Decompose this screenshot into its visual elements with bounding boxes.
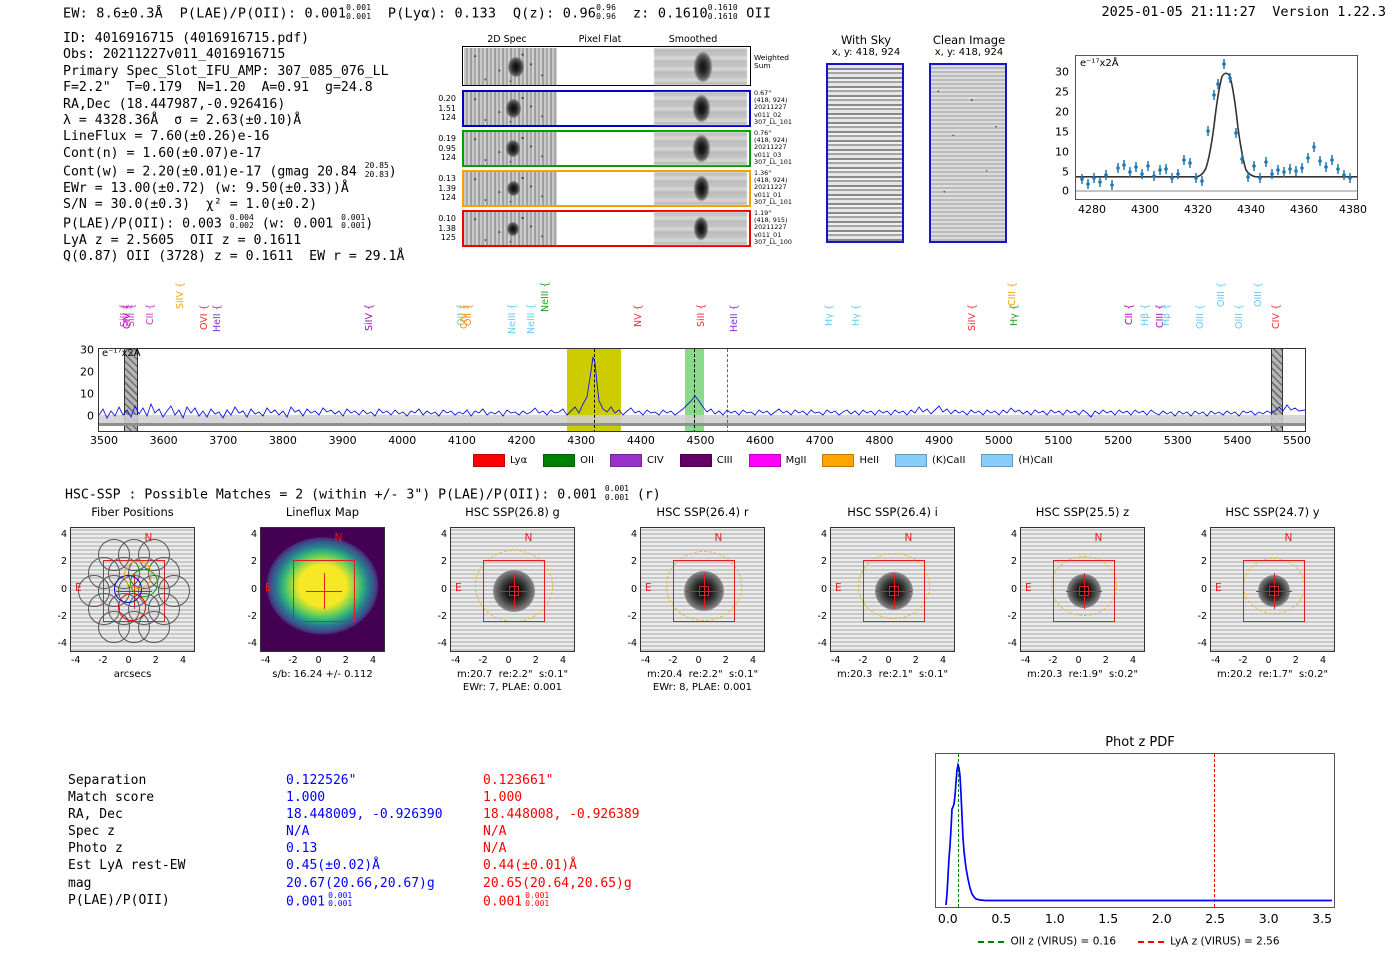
compass-e-4: E xyxy=(835,582,842,594)
cutout-xtick-5-1: -2 xyxy=(1048,655,1057,666)
emission-label-26: OIII { xyxy=(1195,304,1206,348)
legend-swatch-1 xyxy=(543,454,575,467)
with-sky-subtitle: x, y: 418, 924 xyxy=(816,47,916,58)
info-line-obs: Obs: 20211227v011_4016916715 xyxy=(63,47,404,63)
fiber-2-meta: 0.76" (418, 924) 20211227 v011_03 307_LL… xyxy=(754,130,812,166)
cutout-caption1-6: m:20.2 re:1.7" s:0.2" xyxy=(1175,669,1370,680)
info-line-z: LyA z = 2.5605 OII z = 0.1611 xyxy=(63,233,404,249)
photz-pdf-title: Phot z PDF xyxy=(905,735,1375,750)
with-sky-panel: With Sky x, y: 418, 924 xyxy=(822,33,910,248)
match-row-col2-2: 18.448008, -0.926389 xyxy=(483,806,703,823)
info-line-q: Q(0.87) OII (3728) z = 0.1611 EW r = 29.… xyxy=(63,249,404,265)
cutout-ytick-3-2: 0 xyxy=(621,584,637,595)
fiber-row-2 xyxy=(462,130,751,167)
cutout-ytick-0-1: -2 xyxy=(51,611,67,622)
photz-legend-item-0: OII z (VIRUS) = 0.16 xyxy=(978,931,1116,950)
spec2d-title-2dspec: 2D Spec xyxy=(462,34,552,45)
full-spectrum-chart: SiII {CIV {SiII {CII {SiIV {OVI {HeII {S… xyxy=(78,282,1310,462)
match-row-col2-3: N/A xyxy=(483,823,703,840)
with-sky-title: With Sky xyxy=(822,33,910,47)
info-line-lineflux: LineFlux = 7.60(±0.26)e-16 xyxy=(63,129,404,145)
legend-swatch-0 xyxy=(473,454,505,467)
fiber-4-meta: 1.19" (418, 915) 20211227 v011_01 307_LL… xyxy=(754,210,812,246)
spec-xtick-4100: 4100 xyxy=(448,434,476,447)
cutout-image-0[interactable] xyxy=(70,527,195,652)
photz-pdf-legend: OII z (VIRUS) = 0.16LyA z (VIRUS) = 2.56 xyxy=(935,931,1345,947)
emission-label-17: Hγ { xyxy=(824,304,835,348)
cutout-xtick-2-2: 0 xyxy=(506,655,512,666)
cutout-xtick-6-3: 2 xyxy=(1293,655,1299,666)
cutout-ytick-5-4: 4 xyxy=(1001,529,1017,540)
fiber-1-meta: 0.67" (418, 924) 20211227 v011_02 307_LL… xyxy=(754,90,812,126)
match-row-col1-2: 18.448009, -0.926390 xyxy=(286,806,496,823)
spec-xtick-5000: 5000 xyxy=(985,434,1013,447)
cutout-caption1-4: m:20.3 re:2.1" s:0.1" xyxy=(795,669,990,680)
spec2d-strip: 2D Spec Pixel Flat Smoothed Weighted Sum… xyxy=(462,34,757,249)
legend-item-lyα: Lyα xyxy=(473,450,543,469)
match-row-col1-1: 1.000 xyxy=(286,789,496,806)
spec-xtick-3900: 3900 xyxy=(329,434,357,447)
cutout-xtick-6-4: 4 xyxy=(1320,655,1326,666)
match-row-label-7: P(LAE)/P(OII) xyxy=(68,892,268,909)
photz-xtick-2: 1.0 xyxy=(1045,911,1065,926)
cutout-ytick-4-3: 2 xyxy=(811,556,827,567)
match-col1-bounds: 0.0010.001 xyxy=(328,892,352,909)
legend-label-4: MgII xyxy=(786,455,807,466)
legend-label-5: HeII xyxy=(859,455,879,466)
cutout-xtick-0-0: -4 xyxy=(71,655,80,666)
match-row-col2-7: 0.0010.0010.001 xyxy=(483,892,703,910)
header-qz: Q(z): 0.96 xyxy=(513,5,596,21)
info-line-contn: Cont(n) = 1.60(±0.07)e-17 xyxy=(63,146,404,162)
spec-xtick-4700: 4700 xyxy=(806,434,834,447)
spec-ytick-0: 0 xyxy=(66,410,94,423)
cutout-ytick-1-3: 2 xyxy=(241,556,257,567)
spectrum-ylabel: e⁻¹⁷x2Å xyxy=(102,348,141,359)
match-row-col2-6: 20.65(20.64,20.65)g xyxy=(483,875,703,892)
spec2d-title-pixelflat: Pixel Flat xyxy=(555,34,645,45)
legend-swatch-4 xyxy=(749,454,781,467)
lp-ytick-30: 30 xyxy=(1043,66,1069,79)
emission-label-27: OIII { xyxy=(1216,282,1227,346)
cutout-panel-row: Fiber PositionsNE-4-4-2-2002244arcsecsLi… xyxy=(40,505,1370,730)
lp-xtick-4360: 4360 xyxy=(1290,203,1318,216)
cutout-caption1-5: m:20.3 re:1.9" s:0.2" xyxy=(985,669,1180,680)
cutout-image-4[interactable] xyxy=(830,527,955,652)
cutout-xtick-5-4: 4 xyxy=(1130,655,1136,666)
spectrum-axes: e⁻¹⁷x2Å xyxy=(98,348,1306,432)
photz-legend-label-0: OII z (VIRUS) = 0.16 xyxy=(1010,936,1116,948)
header-plae: P(LAE)/P(OII): 0.001 xyxy=(180,5,347,21)
spec-xtick-5500: 5500 xyxy=(1283,434,1311,447)
cutout-xtick-1-0: -4 xyxy=(261,655,270,666)
match-row-col2-1: 1.000 xyxy=(483,789,703,806)
legend-swatch-3 xyxy=(680,454,712,467)
cutout-ytick-1-1: -2 xyxy=(241,611,257,622)
header-ew: EW: 8.6±0.3Å xyxy=(63,5,163,21)
emission-label-22: CII { xyxy=(1124,304,1135,348)
cutout-xtick-3-0: -4 xyxy=(641,655,650,666)
emission-label-3: CII { xyxy=(145,304,156,348)
match-row-col1-4: 0.13 xyxy=(286,840,496,857)
cutout-xtick-5-2: 0 xyxy=(1076,655,1082,666)
cutout-xtick-0-3: 2 xyxy=(153,655,159,666)
cutout-ytick-1-2: 0 xyxy=(241,584,257,595)
legend-item-oii: OII xyxy=(543,450,610,469)
cutout-title-5: HSC SSP(25.5) z xyxy=(990,505,1175,519)
spec-xtick-4600: 4600 xyxy=(746,434,774,447)
cutout-xtick-1-4: 4 xyxy=(370,655,376,666)
detection-info-block: ID: 4016916715 (4016916715.pdf) Obs: 202… xyxy=(63,31,404,265)
cutout-xtick-4-1: -2 xyxy=(858,655,867,666)
fiber-circle-17[interactable] xyxy=(158,575,190,607)
compass-n-0: N xyxy=(145,532,153,544)
compass-e-3: E xyxy=(645,582,652,594)
header-plya: P(Lyα): 0.133 xyxy=(388,5,496,21)
cutout-xtick-1-1: -2 xyxy=(288,655,297,666)
legend-label-0: Lyα xyxy=(510,455,527,466)
cutout-title-0: Fiber Positions xyxy=(40,505,225,519)
legend-label-6: (K)CaII xyxy=(932,455,965,466)
cutout-ytick-2-0: -4 xyxy=(431,638,447,649)
cutout-xtick-0-1: -2 xyxy=(98,655,107,666)
match-row-label-0: Separation xyxy=(68,772,268,789)
legend-item-kcaii: (K)CaII xyxy=(895,450,981,469)
header-z-line: OII xyxy=(746,5,771,21)
fiber-row-4 xyxy=(462,210,751,247)
cutout-title-6: HSC SSP(24.7) y xyxy=(1180,505,1365,519)
fiber-2-nums: 0.19 0.95 124 xyxy=(422,134,456,163)
center-marker-5 xyxy=(1079,586,1089,596)
clean-image-image xyxy=(929,63,1007,243)
line-profile-svg xyxy=(1076,56,1357,199)
compass-e-6: E xyxy=(1215,582,1222,594)
cutout-xtick-0-2: 0 xyxy=(126,655,132,666)
photz-pdf-axes xyxy=(935,753,1335,908)
cutout-ytick-6-4: 4 xyxy=(1191,529,1207,540)
photz-xtick-6: 3.0 xyxy=(1259,911,1279,926)
info-plae-w-bounds: 0.0010.001 xyxy=(341,214,365,231)
legend-label-2: CIV xyxy=(647,455,664,466)
photz-pdf-chart: Phot z PDF 0.00.51.01.52.02.53.03.5 OII … xyxy=(905,735,1375,945)
cutout-title-4: HSC SSP(26.4) i xyxy=(800,505,985,519)
legend-label-1: OII xyxy=(580,455,594,466)
lp-xtick-4320: 4320 xyxy=(1184,203,1212,216)
cutout-caption1-0: arcsecs xyxy=(35,669,230,680)
fiber-4-nums: 0.10 1.38 125 xyxy=(422,214,456,243)
match-row-col2-4: N/A xyxy=(483,840,703,857)
cutout-ytick-0-4: 4 xyxy=(51,529,67,540)
cutout-title-3: HSC SSP(26.4) r xyxy=(610,505,795,519)
lp-ytick-20: 20 xyxy=(1043,106,1069,119)
cutout-ytick-3-4: 4 xyxy=(621,529,637,540)
cutout-image-3[interactable] xyxy=(640,527,765,652)
cutout-ytick-6-2: 0 xyxy=(1191,584,1207,595)
cutout-ytick-4-1: -2 xyxy=(811,611,827,622)
cutout-ytick-5-0: -4 xyxy=(1001,638,1017,649)
fiber-circle-18[interactable] xyxy=(78,575,110,607)
info-plae-bounds: 0.0040.002 xyxy=(230,214,254,231)
emission-label-29: OIII { xyxy=(1253,282,1264,346)
cutout-image-5[interactable] xyxy=(1020,527,1145,652)
cutout-xtick-6-1: -2 xyxy=(1238,655,1247,666)
lp-ytick-5: 5 xyxy=(1043,166,1069,179)
cutout-caption2-2: EWr: 7, PLAE: 0.001 xyxy=(415,682,610,693)
spec2d-weighted-row xyxy=(462,46,751,86)
compass-n-1: N xyxy=(335,532,343,544)
spec-xtick-4800: 4800 xyxy=(865,434,893,447)
timestamp: 2025-01-05 21:11:27 xyxy=(1102,4,1256,20)
cutout-caption1-2: m:20.7 re:2.2" s:0.1" xyxy=(415,669,610,680)
header-z-bounds: 0.16100.1610 xyxy=(708,4,738,21)
cutout-ytick-3-1: -2 xyxy=(621,611,637,622)
photz-legend-dash-0 xyxy=(978,941,1004,943)
header-plae-bounds: 0.0010.001 xyxy=(346,4,371,21)
compass-n-5: N xyxy=(1095,532,1103,544)
cutout-ytick-6-1: -2 xyxy=(1191,611,1207,622)
legend-swatch-5 xyxy=(822,454,854,467)
cutout-xtick-4-0: -4 xyxy=(831,655,840,666)
compass-e-5: E xyxy=(1025,582,1032,594)
emission-label-10: OII { xyxy=(463,304,474,348)
match-row-label-1: Match score xyxy=(68,789,268,806)
photz-pdf-curve xyxy=(936,754,1334,907)
cutout-xtick-4-3: 2 xyxy=(913,655,919,666)
emission-label-7: SiIV { xyxy=(364,304,375,348)
photz-xtick-7: 3.5 xyxy=(1312,911,1332,926)
legend-swatch-2 xyxy=(610,454,642,467)
cutout-xtick-3-2: 0 xyxy=(696,655,702,666)
legend-swatch-6 xyxy=(895,454,927,467)
fiber-3-nums: 0.13 1.39 124 xyxy=(422,174,456,203)
photz-xtick-3: 1.5 xyxy=(1098,911,1118,926)
emission-label-11: NeIII { xyxy=(507,304,518,348)
match-row-label-4: Photo z xyxy=(68,840,268,857)
cutout-title-1: Lineflux Map xyxy=(230,505,415,519)
hsc-plae-bounds: 0.0010.001 xyxy=(605,485,629,502)
photz-xtick-5: 2.5 xyxy=(1205,911,1225,926)
cutout-ytick-1-4: 4 xyxy=(241,529,257,540)
emission-label-4: SiIV { xyxy=(175,282,186,346)
legend-item-mgii: MgII xyxy=(749,450,823,469)
cutout-xtick-4-4: 4 xyxy=(940,655,946,666)
cutout-ytick-2-1: -2 xyxy=(431,611,447,622)
lp-ytick-15: 15 xyxy=(1043,126,1069,139)
legend-item-hcaii: (H)CaII xyxy=(981,450,1068,469)
legend-label-7: (H)CaII xyxy=(1018,455,1052,466)
match-row-label-6: mag xyxy=(68,875,268,892)
spec-xtick-3800: 3800 xyxy=(269,434,297,447)
cutout-xtick-2-4: 4 xyxy=(560,655,566,666)
cutout-xtick-1-3: 2 xyxy=(343,655,349,666)
hsc-ssp-header: HSC-SSP : Possible Matches = 2 (within +… xyxy=(65,485,661,502)
emission-label-21: Hγ { xyxy=(1009,304,1020,348)
legend-item-ciii: CIII xyxy=(680,450,749,469)
info-line-contw: Cont(w) = 2.20(±0.01)e-17 (gmag 20.84 20… xyxy=(63,162,404,181)
cutout-ytick-6-0: -4 xyxy=(1191,638,1207,649)
spectrum-legend: LyαOIICIVCIIIMgIIHeII(K)CaII(H)CaII xyxy=(473,450,1233,466)
info-line-ewr: EWr = 13.00(±0.72) (w: 9.50(±0.33))Å xyxy=(63,181,404,197)
spec2d-fiber-rows: 0.20 1.51 124 0.67" (418, 924) 20211227 … xyxy=(462,90,757,250)
with-sky-image xyxy=(826,63,904,243)
legend-label-3: CIII xyxy=(717,455,733,466)
cutout-ytick-5-2: 0 xyxy=(1001,584,1017,595)
match-properties-table: SeparationMatch scoreRA, DecSpec zPhoto … xyxy=(68,772,708,902)
spec-ytick-30: 30 xyxy=(66,344,94,357)
cutout-ytick-3-0: -4 xyxy=(621,638,637,649)
match-table-labels: SeparationMatch scoreRA, DecSpec zPhoto … xyxy=(68,772,268,909)
crosshair-v-1 xyxy=(324,573,325,609)
emission-label-16: HeII { xyxy=(729,304,740,348)
info-line-sn: S/N = 30.0(±0.3) χ² = 1.0(±0.2) xyxy=(63,197,404,213)
highlighted-fiber-2[interactable] xyxy=(118,593,146,621)
spec-xtick-4400: 4400 xyxy=(627,434,655,447)
cutout-xtick-0-4: 4 xyxy=(180,655,186,666)
center-marker-3 xyxy=(699,586,709,596)
match-row-label-3: Spec z xyxy=(68,823,268,840)
spec-xtick-3600: 3600 xyxy=(150,434,178,447)
cutout-ytick-0-2: 0 xyxy=(51,584,67,595)
match-row-label-5: Est LyA rest-EW xyxy=(68,857,268,874)
spec-xtick-4300: 4300 xyxy=(567,434,595,447)
match-col2-bounds: 0.0010.001 xyxy=(525,892,549,909)
header-summary-line: EW: 8.6±0.3Å P(LAE)/P(OII): 0.0010.0010.… xyxy=(63,4,771,21)
cutout-caption2-3: EWr: 8, PLAE: 0.001 xyxy=(605,682,800,693)
photz-legend-label-1: LyA z (VIRUS) = 2.56 xyxy=(1170,936,1279,948)
spec-xtick-5100: 5100 xyxy=(1044,434,1072,447)
info-line-radec: RA,Dec (18.447987,-0.926416) xyxy=(63,97,404,113)
emission-label-6: HeII { xyxy=(212,304,223,348)
match-row-label-2: RA, Dec xyxy=(68,806,268,823)
compass-n-6: N xyxy=(1285,532,1293,544)
match-row-col1-5: 0.45(±0.02)Å xyxy=(286,857,496,874)
emission-label-28: OIII { xyxy=(1234,304,1245,348)
weighted-2dspec-image xyxy=(464,48,557,85)
spec2d-title-smoothed: Smoothed xyxy=(648,34,738,45)
spec-xtick-3700: 3700 xyxy=(209,434,237,447)
center-marker-6 xyxy=(1269,586,1279,596)
lp-xtick-4380: 4380 xyxy=(1339,203,1367,216)
compass-e-1: E xyxy=(265,582,272,594)
lp-xtick-4300: 4300 xyxy=(1131,203,1159,216)
fiber-3-meta: 1.36" (418, 924) 20211227 v011_01 307_LL… xyxy=(754,170,812,206)
spec-xtick-5300: 5300 xyxy=(1164,434,1192,447)
cutout-image-6[interactable] xyxy=(1210,527,1335,652)
spec-xtick-4500: 4500 xyxy=(687,434,715,447)
emission-label-25: Hβ { xyxy=(1161,304,1172,348)
version: Version 1.22.3 xyxy=(1272,4,1386,20)
legend-item-heii: HeII xyxy=(822,450,895,469)
clean-image-title: Clean Image xyxy=(925,33,1013,47)
fiber-row-1 xyxy=(462,90,751,127)
cutout-ytick-6-3: 2 xyxy=(1191,556,1207,567)
info-line-specslot: Primary Spec_Slot_IFU_AMP: 307_085_076_L… xyxy=(63,64,404,80)
weighted-smoothed-image xyxy=(654,48,747,85)
spec-xtick-4200: 4200 xyxy=(508,434,536,447)
compass-n-4: N xyxy=(905,532,913,544)
cutout-image-1[interactable] xyxy=(260,527,385,652)
photz-legend-dash-1 xyxy=(1138,941,1164,943)
compass-e-2: E xyxy=(455,582,462,594)
cutout-xtick-3-3: 2 xyxy=(723,655,729,666)
cutout-xtick-2-3: 2 xyxy=(533,655,539,666)
header-timestamp-version: 2025-01-05 21:11:27 Version 1.22.3 xyxy=(1102,4,1387,20)
spec-xtick-5200: 5200 xyxy=(1104,434,1132,447)
cutout-ytick-0-0: -4 xyxy=(51,638,67,649)
cutout-xtick-5-3: 2 xyxy=(1103,655,1109,666)
highlighted-fiber-3[interactable] xyxy=(124,561,152,589)
cutout-caption1-3: m:20.4 re:2.2" s:0.1" xyxy=(605,669,800,680)
lp-ytick-0: 0 xyxy=(1043,185,1069,198)
match-table-column-2: 0.123661"1.00018.448008, -0.926389N/AN/A… xyxy=(483,772,703,910)
match-row-col1-0: 0.122526" xyxy=(286,772,496,789)
lp-ytick-10: 10 xyxy=(1043,146,1069,159)
compass-e-0: E xyxy=(75,582,82,594)
weighted-sum-label: Weighted Sum xyxy=(754,54,800,71)
cutout-xtick-6-0: -4 xyxy=(1211,655,1220,666)
cutout-ytick-2-4: 4 xyxy=(431,529,447,540)
cutout-ytick-2-3: 2 xyxy=(431,556,447,567)
match-row-col1-7: 0.0010.0010.001 xyxy=(286,892,496,910)
cutout-xtick-3-1: -2 xyxy=(668,655,677,666)
emission-label-2: SiII { xyxy=(126,304,137,348)
gmag-bounds: 20.8520.83 xyxy=(365,162,389,179)
photz-xtick-0: 0.0 xyxy=(938,911,958,926)
info-line-lambda: λ = 4328.36Å σ = 2.63(±0.10)Å xyxy=(63,113,404,129)
cutout-ytick-5-1: -2 xyxy=(1001,611,1017,622)
emission-label-18: Hγ { xyxy=(851,304,862,348)
cutout-image-2[interactable] xyxy=(450,527,575,652)
cutout-xtick-2-0: -4 xyxy=(451,655,460,666)
weighted-pixelflat-image xyxy=(559,48,652,85)
center-marker-2 xyxy=(509,586,519,596)
cutout-xtick-3-4: 4 xyxy=(750,655,756,666)
info-line-id: ID: 4016916715 (4016916715.pdf) xyxy=(63,31,404,47)
match-row-col2-5: 0.44(±0.01)Å xyxy=(483,857,703,874)
match-row-col1-6: 20.67(20.66,20.67)g xyxy=(286,875,496,892)
match-row-col1-3: N/A xyxy=(286,823,496,840)
cutout-xtick-6-2: 0 xyxy=(1266,655,1272,666)
spec-xtick-4900: 4900 xyxy=(925,434,953,447)
emission-label-23: Hβ { xyxy=(1140,304,1151,348)
info-line-plae: P(LAE)/P(OII): 0.003 0.0040.002 (w: 0.00… xyxy=(63,214,404,233)
clean-image-subtitle: x, y: 418, 924 xyxy=(919,47,1019,58)
spec-ytick-20: 20 xyxy=(66,366,94,379)
lp-xtick-4340: 4340 xyxy=(1237,203,1265,216)
line-profile-chart: e⁻¹⁷x2Å xyxy=(1035,55,1365,255)
emission-label-19: SiIV { xyxy=(967,304,978,348)
emission-label-14: NV { xyxy=(633,304,644,348)
photz-xtick-1: 0.5 xyxy=(991,911,1011,926)
cutout-xtick-5-0: -4 xyxy=(1021,655,1030,666)
match-table-column-1: 0.122526"1.00018.448009, -0.926390N/A0.1… xyxy=(286,772,496,910)
spectrum-trace xyxy=(99,349,1305,431)
cutout-caption1-1: s/b: 16.24 +/- 0.112 xyxy=(225,669,420,680)
cutout-ytick-1-0: -4 xyxy=(241,638,257,649)
cutout-ytick-5-3: 2 xyxy=(1001,556,1017,567)
legend-swatch-7 xyxy=(981,454,1013,467)
match-row-col2-0: 0.123661" xyxy=(483,772,703,789)
photz-xtick-4: 2.0 xyxy=(1152,911,1172,926)
cutout-ytick-2-2: 0 xyxy=(431,584,447,595)
lp-xtick-4280: 4280 xyxy=(1078,203,1106,216)
cutout-ytick-3-3: 2 xyxy=(621,556,637,567)
line-profile-axes: e⁻¹⁷x2Å xyxy=(1075,55,1358,200)
compass-n-3: N xyxy=(715,532,723,544)
center-marker-4 xyxy=(889,586,899,596)
spec-xtick-4000: 4000 xyxy=(388,434,416,447)
lp-ytick-25: 25 xyxy=(1043,86,1069,99)
